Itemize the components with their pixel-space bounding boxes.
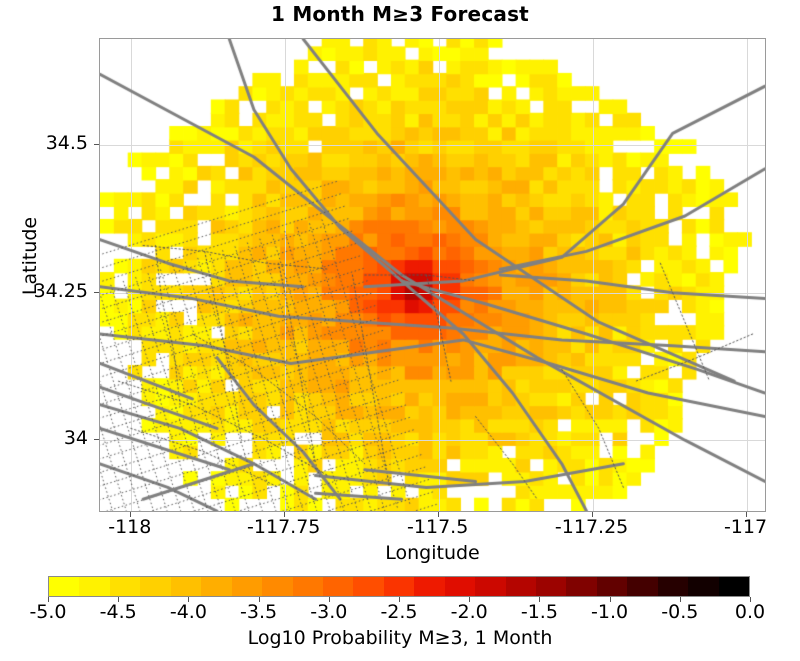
colorbar-segment bbox=[232, 577, 262, 596]
colorbar-segment bbox=[262, 577, 292, 596]
colorbar-segment bbox=[353, 577, 383, 596]
y-tick-mark bbox=[94, 439, 99, 440]
y-tick-label: 34 bbox=[8, 427, 88, 449]
colorbar-segment bbox=[566, 577, 596, 596]
y-axis-label: Latitude bbox=[19, 196, 41, 316]
x-tick-label: -118 bbox=[60, 516, 200, 538]
colorbar-title: Log10 Probability M≥3, 1 Month bbox=[0, 627, 800, 649]
colorbar-segment bbox=[110, 577, 140, 596]
colorbar-segment bbox=[597, 577, 627, 596]
fault-and-boundary-overlay bbox=[100, 39, 765, 511]
colorbar-segment bbox=[140, 577, 170, 596]
colorbar-segment bbox=[293, 577, 323, 596]
colorbar-segment bbox=[49, 577, 79, 596]
colorbar-segment bbox=[414, 577, 444, 596]
colorbar-segment bbox=[323, 577, 353, 596]
x-tick-label: -117 bbox=[676, 516, 800, 538]
x-tick-label: -117.25 bbox=[522, 516, 662, 538]
colorbar-segment bbox=[627, 577, 657, 596]
colorbar-segment bbox=[719, 577, 749, 596]
y-tick-label: 34.5 bbox=[8, 132, 88, 154]
colorbar-segment bbox=[688, 577, 718, 596]
colorbar-segment bbox=[536, 577, 566, 596]
forecast-map-plot bbox=[99, 38, 766, 512]
colorbar-segment bbox=[658, 577, 688, 596]
y-tick-mark bbox=[94, 144, 99, 145]
y-tick-mark bbox=[94, 292, 99, 293]
x-tick-label: -117.5 bbox=[368, 516, 508, 538]
colorbar-segment bbox=[475, 577, 505, 596]
colorbar-segment bbox=[384, 577, 414, 596]
colorbar-segment bbox=[79, 577, 109, 596]
x-axis-label: Longitude bbox=[99, 542, 766, 564]
colorbar bbox=[48, 576, 750, 597]
page-title: 1 Month M≥3 Forecast bbox=[0, 2, 800, 26]
colorbar-segment bbox=[506, 577, 536, 596]
colorbar-tick-label: 0.0 bbox=[705, 601, 795, 623]
colorbar-segment bbox=[171, 577, 201, 596]
colorbar-segment bbox=[445, 577, 475, 596]
colorbar-segment bbox=[201, 577, 231, 596]
x-tick-label: -117.75 bbox=[214, 516, 354, 538]
